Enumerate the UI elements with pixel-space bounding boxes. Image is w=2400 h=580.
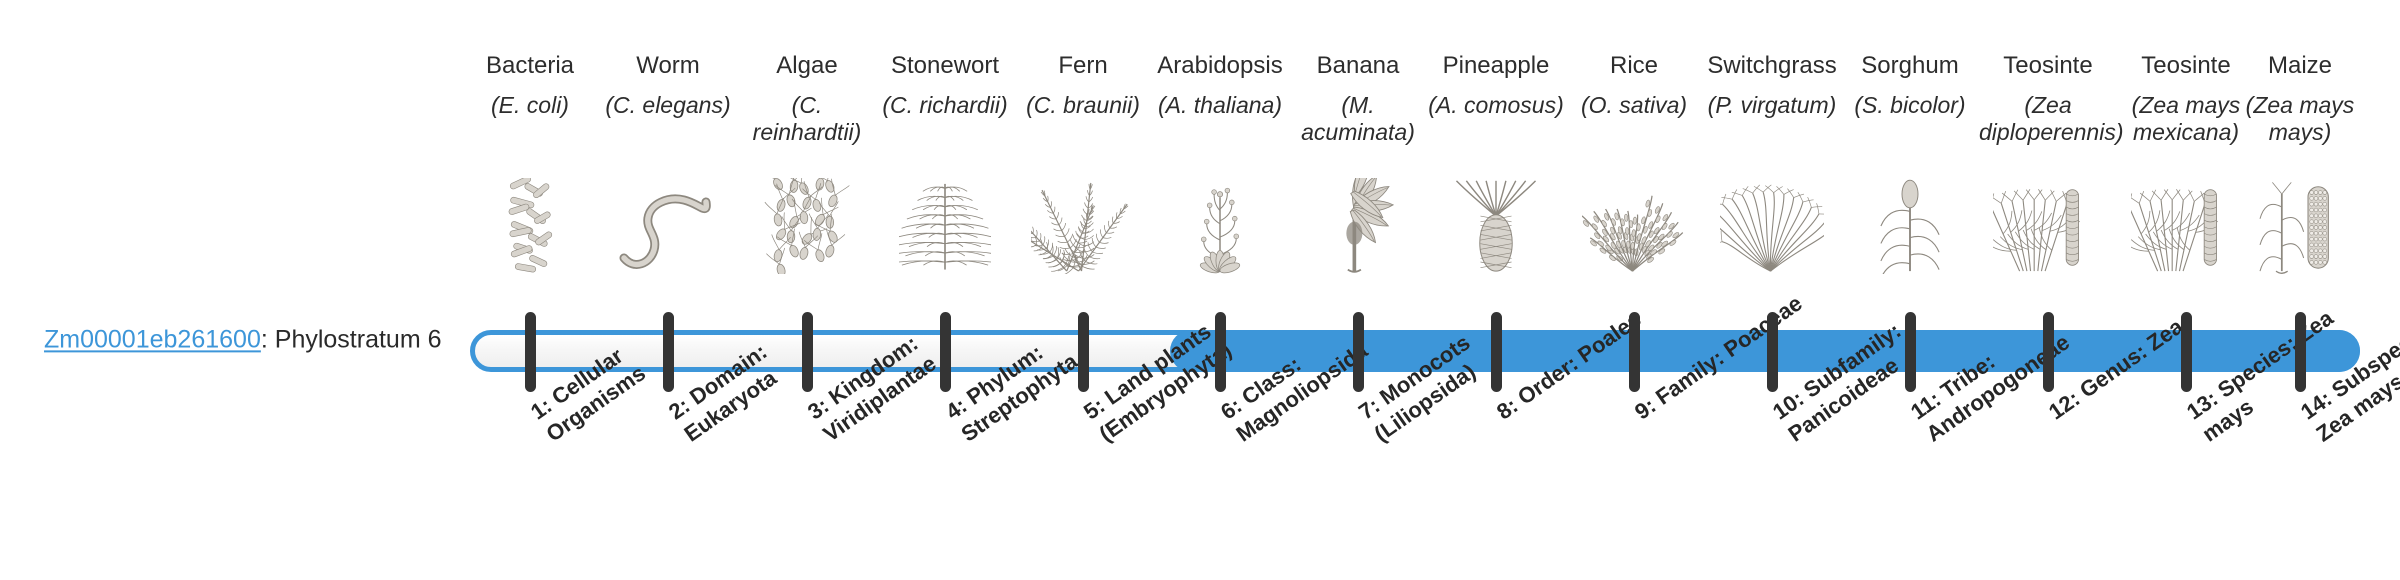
arabidopsis-icon [1151,178,1289,274]
pineapple-icon [1427,178,1565,274]
species-common-name: Bacteria [461,52,599,80]
species-scientific-name: (O. sativa) [1565,92,1703,118]
species-column-header: Pineapple(A. comosus) [1427,52,1565,119]
phylostratum-tick[interactable] [663,312,674,392]
banana-icon [1289,178,1427,274]
species-common-name: Rice [1565,52,1703,80]
switchgrass-icon [1703,178,1841,274]
species-column-header: Worm(C. elegans) [599,52,737,119]
species-column-header: Arabidopsis(A. thaliana) [1151,52,1289,119]
species-common-name: Worm [599,52,737,80]
species-common-name: Sorghum [1841,52,1979,80]
phylostratum-value: Phylostratum 6 [275,325,442,353]
phylostratum-tick[interactable] [1491,312,1502,392]
worm-icon [599,178,737,274]
species-scientific-name: (S. bicolor) [1841,92,1979,118]
species-column-header: Switchgrass(P. virgatum) [1703,52,1841,119]
species-scientific-name: (Zea mays mays) [2231,92,2369,144]
stonewort-icon [876,178,1014,274]
phylostratum-tick[interactable] [1078,312,1089,392]
species-common-name: Teosinte [1979,52,2117,80]
species-scientific-name: (Zea diploperennis) [1979,92,2117,144]
gene-label-separator: : [261,325,275,353]
species-scientific-name: (C. braunii) [1014,92,1152,118]
species-scientific-name: (A. thaliana) [1151,92,1289,118]
algae-icon [738,178,876,274]
bacteria-icon [461,178,599,274]
species-column-header: Stonewort(C. richardii) [876,52,1014,119]
species-scientific-name: (E. coli) [461,92,599,118]
species-common-name: Arabidopsis [1151,52,1289,80]
phylostratum-tick[interactable] [1905,312,1916,392]
species-common-name: Fern [1014,52,1152,80]
phylostratum-tick[interactable] [1353,312,1364,392]
phylostratigraphy-diagram: Zm00001eb261600: Phylostratum 6 Bacteria… [0,0,2400,580]
species-column-header: Algae(C. reinhardtii) [738,52,876,145]
species-column-header: Sorghum(S. bicolor) [1841,52,1979,119]
species-column-header: Banana(M. acuminata) [1289,52,1427,145]
species-column-header: Rice(O. sativa) [1565,52,1703,119]
species-common-name: Pineapple [1427,52,1565,80]
species-scientific-name: (P. virgatum) [1703,92,1841,118]
species-common-name: Maize [2231,52,2369,80]
species-column-header: Maize(Zea mays mays) [2231,52,2369,145]
phylostratum-tick[interactable] [1767,312,1778,392]
phylostratum-tick[interactable] [940,312,951,392]
species-scientific-name: (C. reinhardtii) [738,92,876,144]
phylostratum-tick[interactable] [525,312,536,392]
gene-phylostratum-label: Zm00001eb261600: Phylostratum 6 [44,324,442,355]
phylostratum-tick[interactable] [2043,312,2054,392]
species-scientific-name: (C. elegans) [599,92,737,118]
rice-icon [1565,178,1703,274]
species-column-header: Teosinte(Zea diploperennis) [1979,52,2117,145]
species-common-name: Banana [1289,52,1427,80]
gene-id-link[interactable]: Zm00001eb261600 [44,325,261,353]
species-scientific-name: (M. acuminata) [1289,92,1427,144]
phylostratum-tick[interactable] [1215,312,1226,392]
phylostratum-tick[interactable] [2181,312,2192,392]
teosinte-icon [1979,178,2117,274]
species-common-name: Algae [738,52,876,80]
species-scientific-name: (A. comosus) [1427,92,1565,118]
phylostratum-tick[interactable] [2295,312,2306,392]
fern-icon [1014,178,1152,274]
maize-icon [2231,178,2369,274]
species-scientific-name: (C. richardii) [876,92,1014,118]
sorghum-icon [1841,178,1979,274]
species-common-name: Switchgrass [1703,52,1841,80]
species-column-header: Fern(C. braunii) [1014,52,1152,119]
phylostratum-tick[interactable] [1629,312,1640,392]
species-column-header: Bacteria(E. coli) [461,52,599,119]
phylostratum-tick[interactable] [802,312,813,392]
species-common-name: Stonewort [876,52,1014,80]
